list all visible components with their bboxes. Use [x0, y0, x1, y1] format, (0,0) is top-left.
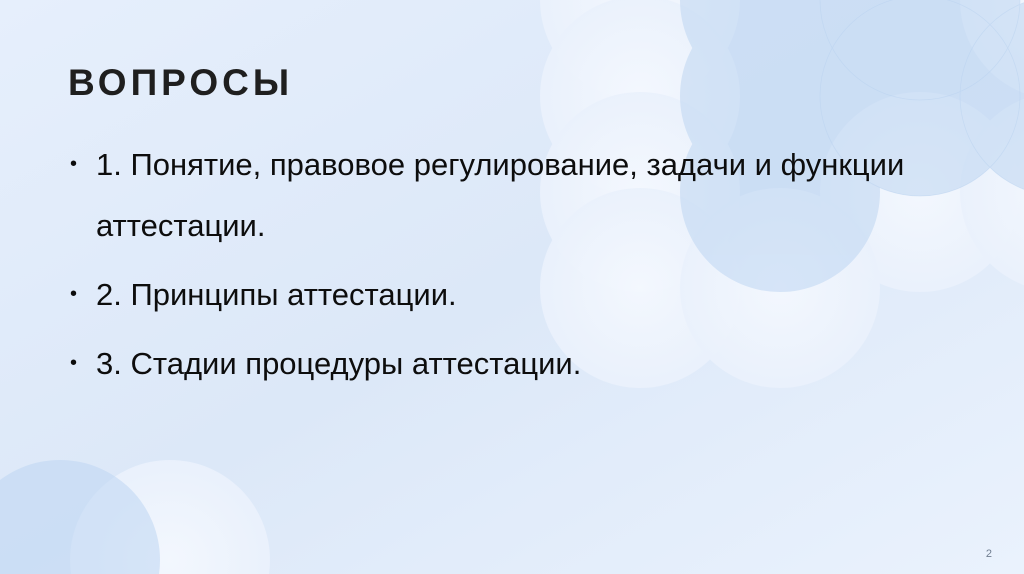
list-item-text: 3. Стадии процедуры аттестации.	[96, 333, 962, 394]
bullet-list: • 1. Понятие, правовое регулирование, за…	[62, 134, 962, 402]
bullet-marker-icon: •	[70, 264, 78, 325]
list-item: • 3. Стадии процедуры аттестации.	[62, 333, 962, 394]
list-item-text: 2. Принципы аттестации.	[96, 264, 962, 325]
slide-title: ВОПРОСЫ	[68, 64, 293, 103]
slide: ВОПРОСЫ • 1. Понятие, правовое регулиров…	[0, 0, 1024, 574]
bullet-marker-icon: •	[70, 333, 78, 394]
list-item-text: 1. Понятие, правовое регулирование, зада…	[96, 134, 962, 256]
list-item: • 2. Принципы аттестации.	[62, 264, 962, 325]
page-number: 2	[986, 548, 992, 560]
bullet-marker-icon: •	[70, 134, 78, 195]
slide-content: ВОПРОСЫ • 1. Понятие, правовое регулиров…	[0, 0, 1024, 574]
list-item: • 1. Понятие, правовое регулирование, за…	[62, 134, 962, 256]
